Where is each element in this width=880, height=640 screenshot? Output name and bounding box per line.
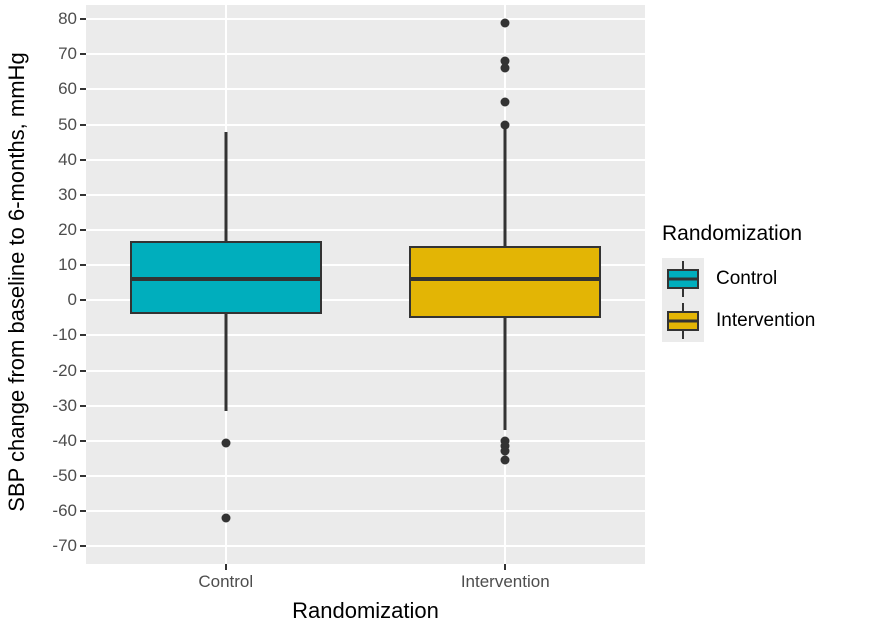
- boxplot-figure: SBP change from baseline to 6-months, mm…: [0, 0, 880, 640]
- y-tick-label: -40: [52, 431, 77, 451]
- legend-key-glyph: [662, 258, 704, 300]
- legend-label: Control: [716, 268, 777, 290]
- y-tick-label: 10: [58, 255, 77, 275]
- whisker-upper: [504, 126, 507, 246]
- outlier-point: [501, 447, 510, 456]
- y-tick-label: -50: [52, 466, 77, 486]
- y-tick-label: 80: [58, 9, 77, 29]
- y-tick-label: 70: [58, 44, 77, 64]
- y-tick-label: 60: [58, 79, 77, 99]
- legend-label: Intervention: [716, 310, 815, 332]
- median-line: [409, 277, 601, 281]
- boxplot-intervention: [86, 5, 645, 564]
- legend-whisker-bottom: [682, 330, 684, 339]
- outlier-point: [501, 97, 510, 106]
- y-tick-label: 0: [68, 290, 77, 310]
- legend-item-intervention[interactable]: Intervention: [662, 300, 880, 342]
- y-tick-label: 40: [58, 150, 77, 170]
- y-tick-label: -70: [52, 536, 77, 556]
- outlier-point: [501, 18, 510, 27]
- outlier-point: [501, 64, 510, 73]
- legend-median: [667, 320, 699, 323]
- outlier-point: [501, 456, 510, 465]
- x-axis-ticks: ControlIntervention: [86, 564, 645, 594]
- y-tick-label: -20: [52, 361, 77, 381]
- box-iqr: [409, 246, 601, 318]
- y-tick-label: -30: [52, 396, 77, 416]
- y-tick-label: -60: [52, 501, 77, 521]
- y-axis-title: SBP change from baseline to 6-months, mm…: [0, 0, 34, 564]
- legend-median: [667, 278, 699, 281]
- y-tick-label: 30: [58, 185, 77, 205]
- x-tick-mark: [504, 564, 506, 570]
- y-tick-label: -10: [52, 325, 77, 345]
- x-tick-label-intervention: Intervention: [461, 572, 550, 592]
- legend-key-glyph: [662, 300, 704, 342]
- x-tick-mark: [225, 564, 227, 570]
- legend-items: ControlIntervention: [662, 258, 880, 342]
- whisker-lower: [504, 318, 507, 431]
- y-axis-ticks: 80706050403020100-10-20-30-40-50-60-70: [34, 0, 86, 640]
- y-tick-label: 20: [58, 220, 77, 240]
- legend: Randomization ControlIntervention: [662, 222, 880, 342]
- outlier-point: [501, 120, 510, 129]
- plot-panel: [86, 5, 645, 564]
- legend-item-control[interactable]: Control: [662, 258, 880, 300]
- legend-whisker-bottom: [682, 288, 684, 297]
- x-axis-title: Randomization: [86, 598, 645, 624]
- legend-title: Randomization: [662, 222, 880, 246]
- x-tick-label-control: Control: [198, 572, 253, 592]
- y-tick-label: 50: [58, 115, 77, 135]
